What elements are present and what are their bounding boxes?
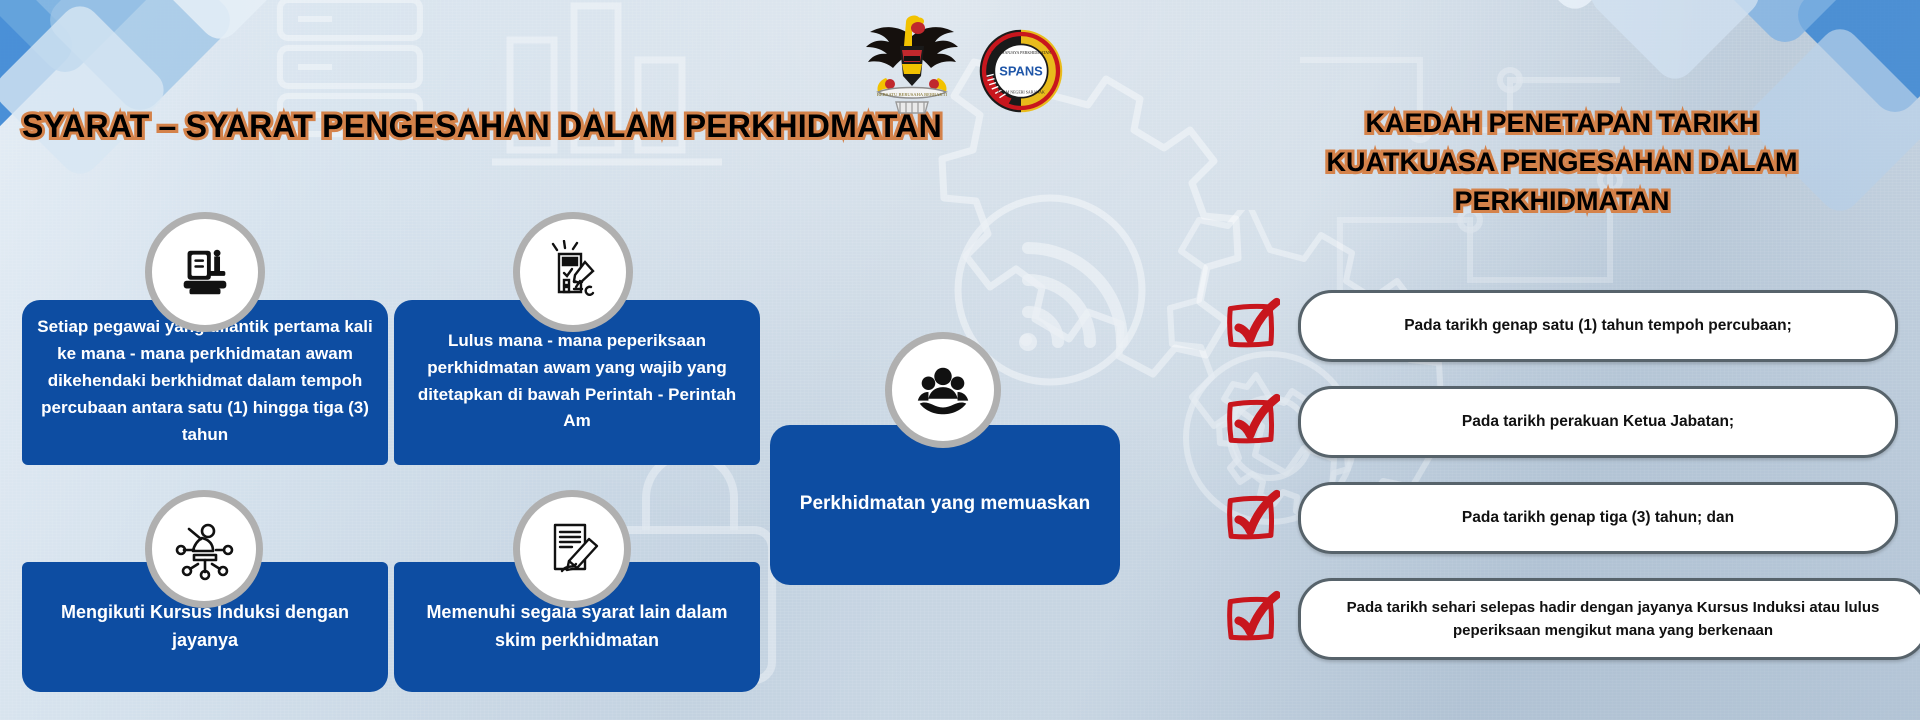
logo-bar: BERSATU BERUSAHA BERBAKTI SPANS SURUHANJ… bbox=[856, 6, 1064, 114]
svg-text:SPANS: SPANS bbox=[999, 63, 1043, 78]
red-check-box-icon[interactable] bbox=[1222, 590, 1280, 648]
spans-logo: SPANS SURUHANJAYA PERKHIDMATAN AWAM NEGE… bbox=[978, 28, 1064, 114]
exam-checklist-icon bbox=[541, 240, 605, 304]
training-presenter-icon bbox=[172, 517, 236, 581]
method-2-row[interactable]: Pada tarikh perakuan Ketua Jabatan; bbox=[1222, 386, 1898, 458]
right-section-title: KAEDAH PENETAPAN TARIKH KUATKUASA PENGES… bbox=[1232, 104, 1892, 221]
certificate-stamp-icon bbox=[174, 241, 236, 303]
method-4-text: Pada tarikh sehari selepas hadir dengan … bbox=[1323, 596, 1903, 643]
method-2-text: Pada tarikh perakuan Ketua Jabatan; bbox=[1462, 410, 1734, 434]
condition-5-icon-bubble bbox=[513, 490, 631, 608]
background-chart-art bbox=[470, 0, 750, 180]
condition-2-text: Lulus mana - mana peperiksaan perkhidmat… bbox=[408, 328, 746, 435]
method-3-row[interactable]: Pada tarikh genap tiga (3) tahun; dan bbox=[1222, 482, 1898, 554]
right-title-line-2: KUATKUASA PENGESAHAN DALAM bbox=[1232, 143, 1892, 182]
svg-text:BERSATU BERUSAHA BERBAKTI: BERSATU BERUSAHA BERBAKTI bbox=[877, 92, 948, 97]
svg-text:SURUHANJAYA PERKHIDMATAN: SURUHANJAYA PERKHIDMATAN bbox=[991, 50, 1051, 55]
condition-2-icon-bubble bbox=[513, 212, 633, 332]
condition-3-icon-bubble bbox=[885, 332, 1001, 448]
method-1-row[interactable]: Pada tarikh genap satu (1) tahun tempoh … bbox=[1222, 290, 1898, 362]
svg-text:AWAM NEGERI SARAWAK: AWAM NEGERI SARAWAK bbox=[997, 89, 1045, 94]
red-check-box-icon[interactable] bbox=[1222, 297, 1280, 355]
signed-document-icon bbox=[540, 517, 604, 581]
right-title-line-3: PERKHIDMATAN bbox=[1232, 182, 1892, 221]
condition-1-text: Setiap pegawai yang dilantik pertama kal… bbox=[36, 314, 374, 448]
method-4-row[interactable]: Pada tarikh sehari selepas hadir dengan … bbox=[1222, 578, 1920, 660]
condition-3-text: Perkhidmatan yang memuaskan bbox=[800, 489, 1090, 519]
method-1-text: Pada tarikh genap satu (1) tahun tempoh … bbox=[1404, 314, 1792, 338]
method-3-text: Pada tarikh genap tiga (3) tahun; dan bbox=[1462, 506, 1734, 530]
sarawak-coat-of-arms: BERSATU BERUSAHA BERBAKTI bbox=[856, 6, 968, 114]
red-check-box-icon[interactable] bbox=[1222, 393, 1280, 451]
infographic-canvas: BERSATU BERUSAHA BERBAKTI SPANS SURUHANJ… bbox=[0, 0, 1920, 720]
condition-4-icon-bubble bbox=[145, 490, 263, 608]
method-3-pill[interactable]: Pada tarikh genap tiga (3) tahun; dan bbox=[1298, 482, 1898, 554]
method-4-pill[interactable]: Pada tarikh sehari selepas hadir dengan … bbox=[1298, 578, 1920, 660]
method-1-pill[interactable]: Pada tarikh genap satu (1) tahun tempoh … bbox=[1298, 290, 1898, 362]
right-title-line-1: KAEDAH PENETAPAN TARIKH bbox=[1232, 104, 1892, 143]
condition-3-card: Perkhidmatan yang memuaskan bbox=[770, 425, 1120, 585]
red-check-box-icon[interactable] bbox=[1222, 489, 1280, 547]
method-2-pill[interactable]: Pada tarikh perakuan Ketua Jabatan; bbox=[1298, 386, 1898, 458]
satisfied-people-icon bbox=[912, 359, 974, 421]
condition-1-icon-bubble bbox=[145, 212, 265, 332]
